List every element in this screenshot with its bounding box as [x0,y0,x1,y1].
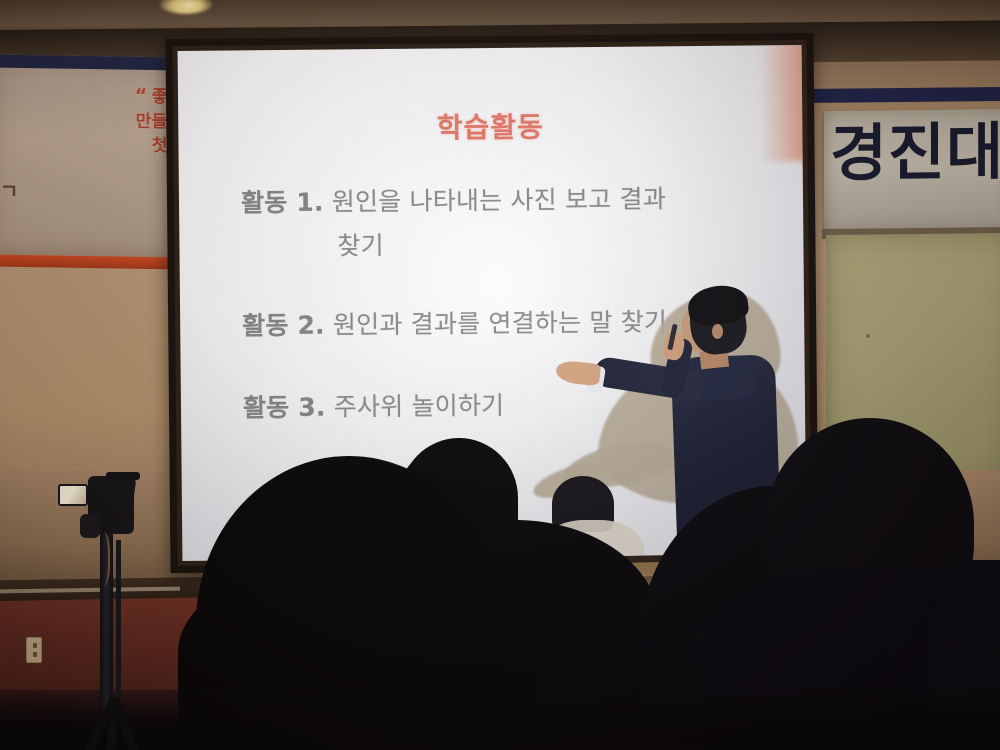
photo-scene: “ 좋은 만들기 첫걸 ㄱ 경진대 학습활동 활동 1. 원인을 나타내는 사진… [0,0,1000,750]
banner-right-text: 경진대 [830,119,1000,186]
camcorder-cable [94,532,110,586]
banner-right: 경진대 [824,109,1000,233]
slide-line-2-number: 활동 2. [242,311,325,341]
slide-line-3-number: 활동 3. [243,392,326,422]
camcorder-lcd-screen [58,484,88,506]
camcorder-on-tripod [58,470,188,750]
power-outlet-icon [26,637,42,663]
banner-left-line-3: 첫걸 [0,132,184,159]
wall-stripe-navy-right [790,87,1000,103]
banner-left-top-bar [0,54,190,70]
slide-line-3-text: 주사위 놀이하기 [334,390,505,421]
slide-line-1-number: 활동 1. [241,188,324,218]
tripod-legs [56,698,188,750]
quote-open-icon: “ [135,85,146,107]
left-panel-edge: ㄱ [0,175,26,215]
slide-title: 학습활동 [218,103,762,148]
presenter-ear [712,324,723,339]
board-speck [866,334,870,338]
tripod-secondary-post [116,540,121,716]
banner-left: “ 좋은 만들기 첫걸 [0,54,190,257]
slide-line-1-continued: 찾기 [219,223,763,266]
banner-left-line-2: 만들기 [0,107,184,134]
slide-line-1: 활동 1. 원인을 나타내는 사진 보고 결과 [219,179,763,222]
slide-line-1-text: 원인을 나타내는 사진 보고 결과 [332,184,666,216]
banner-left-text: “ 좋은 만들기 첫걸 [0,80,190,158]
